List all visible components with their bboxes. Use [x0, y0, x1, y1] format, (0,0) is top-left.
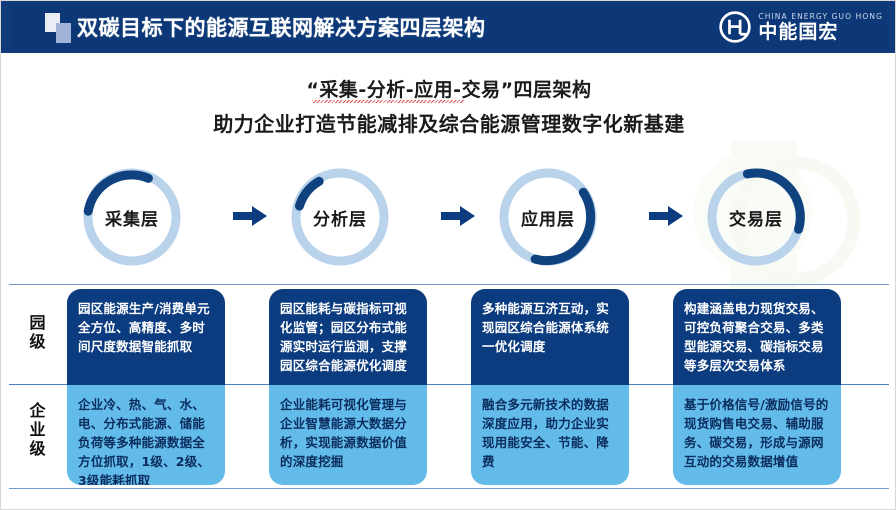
row-label-char: 级	[15, 439, 61, 458]
row-label-park-level: 园 级	[15, 313, 61, 351]
logo-chinese-name: 中能国宏	[758, 22, 883, 43]
card-park-apply[interactable]: 多种能源互济互动，实现园区综合能源体系统一优化调度	[471, 289, 629, 385]
stage-ring-collect[interactable]: 采集层	[79, 164, 185, 270]
stage-label: 采集层	[79, 164, 185, 270]
card-enterprise-analyze[interactable]: 企业能耗可视化管理与企业智慧能源大数据分析，实现能源数据价值的深度挖掘	[269, 385, 427, 485]
stage-flow-row: 采集层 分析层 应用层	[1, 161, 896, 279]
flow-arrow-icon-3	[649, 205, 683, 227]
card-enterprise-collect[interactable]: 企业冷、热、气、水、电、分布式能源、储能负荷等多种能源数据全方位抓取，1级、2级…	[67, 385, 225, 485]
company-logo: CHINA ENERGY GUO HONG 中能国宏	[718, 9, 883, 45]
row-label-char: 企	[15, 401, 61, 420]
row-label-enterprise-level: 企 业 级	[15, 401, 61, 458]
stage-ring-apply[interactable]: 应用层	[495, 164, 601, 270]
matrix-divider-bottom	[9, 488, 889, 489]
company-logo-mark-icon	[718, 10, 752, 44]
card-park-trade[interactable]: 构建涵盖电力现货交易、可控负荷聚合交易、多类型能源交易、碳指标交易等多层次交易体…	[673, 289, 841, 385]
spellcheck-underline	[312, 100, 464, 103]
card-enterprise-trade[interactable]: 基于价格信号/激励信号的现货购售电交易、辅助服务、碳交易，形成与源网互动的交易数…	[673, 385, 841, 485]
stage-label: 分析层	[287, 164, 393, 270]
slide-header: 双碳目标下的能源互联网解决方案四层架构 CHINA ENERGY GUO HON…	[1, 1, 896, 53]
subtitle-line-2: 助力企业打造节能减排及综合能源管理数字化新基建	[1, 111, 896, 137]
card-park-collect[interactable]: 园区能源生产/消费单元全方位、高精度、多时间尺度数据智能抓取	[67, 289, 225, 385]
flow-arrow-icon-2	[441, 205, 475, 227]
stage-label: 应用层	[495, 164, 601, 270]
row-label-char: 业	[15, 420, 61, 439]
header-decoration-squares	[45, 13, 71, 43]
card-enterprise-apply[interactable]: 融合多元新技术的数据深度应用，助力企业实现用能安全、节能、降费	[471, 385, 629, 485]
flow-arrow-icon-1	[233, 205, 267, 227]
card-park-analyze[interactable]: 园区能耗与碳指标可视化监管；园区分布式能源实时运行监测，支撑园区综合能源优化调度	[269, 289, 427, 385]
subtitle-block: “采集-分析-应用-交易”四层架构 助力企业打造节能减排及综合能源管理数字化新基…	[1, 77, 896, 137]
logo-english-name: CHINA ENERGY GUO HONG	[758, 12, 883, 22]
stage-ring-trade[interactable]: 交易层	[703, 164, 809, 270]
page-title: 双碳目标下的能源互联网解决方案四层架构	[77, 12, 486, 42]
stage-ring-analyze[interactable]: 分析层	[287, 164, 393, 270]
subtitle-line-1: “采集-分析-应用-交易”四层架构	[306, 77, 591, 103]
slide-canvas: 双碳目标下的能源互联网解决方案四层架构 CHINA ENERGY GUO HON…	[0, 0, 896, 510]
stage-label: 交易层	[703, 164, 809, 270]
matrix-divider-top	[9, 284, 889, 285]
row-label-char: 级	[15, 332, 61, 351]
row-label-char: 园	[15, 313, 61, 332]
subtitle-line-1-text: “采集-分析-应用-交易”四层架构	[306, 79, 591, 101]
